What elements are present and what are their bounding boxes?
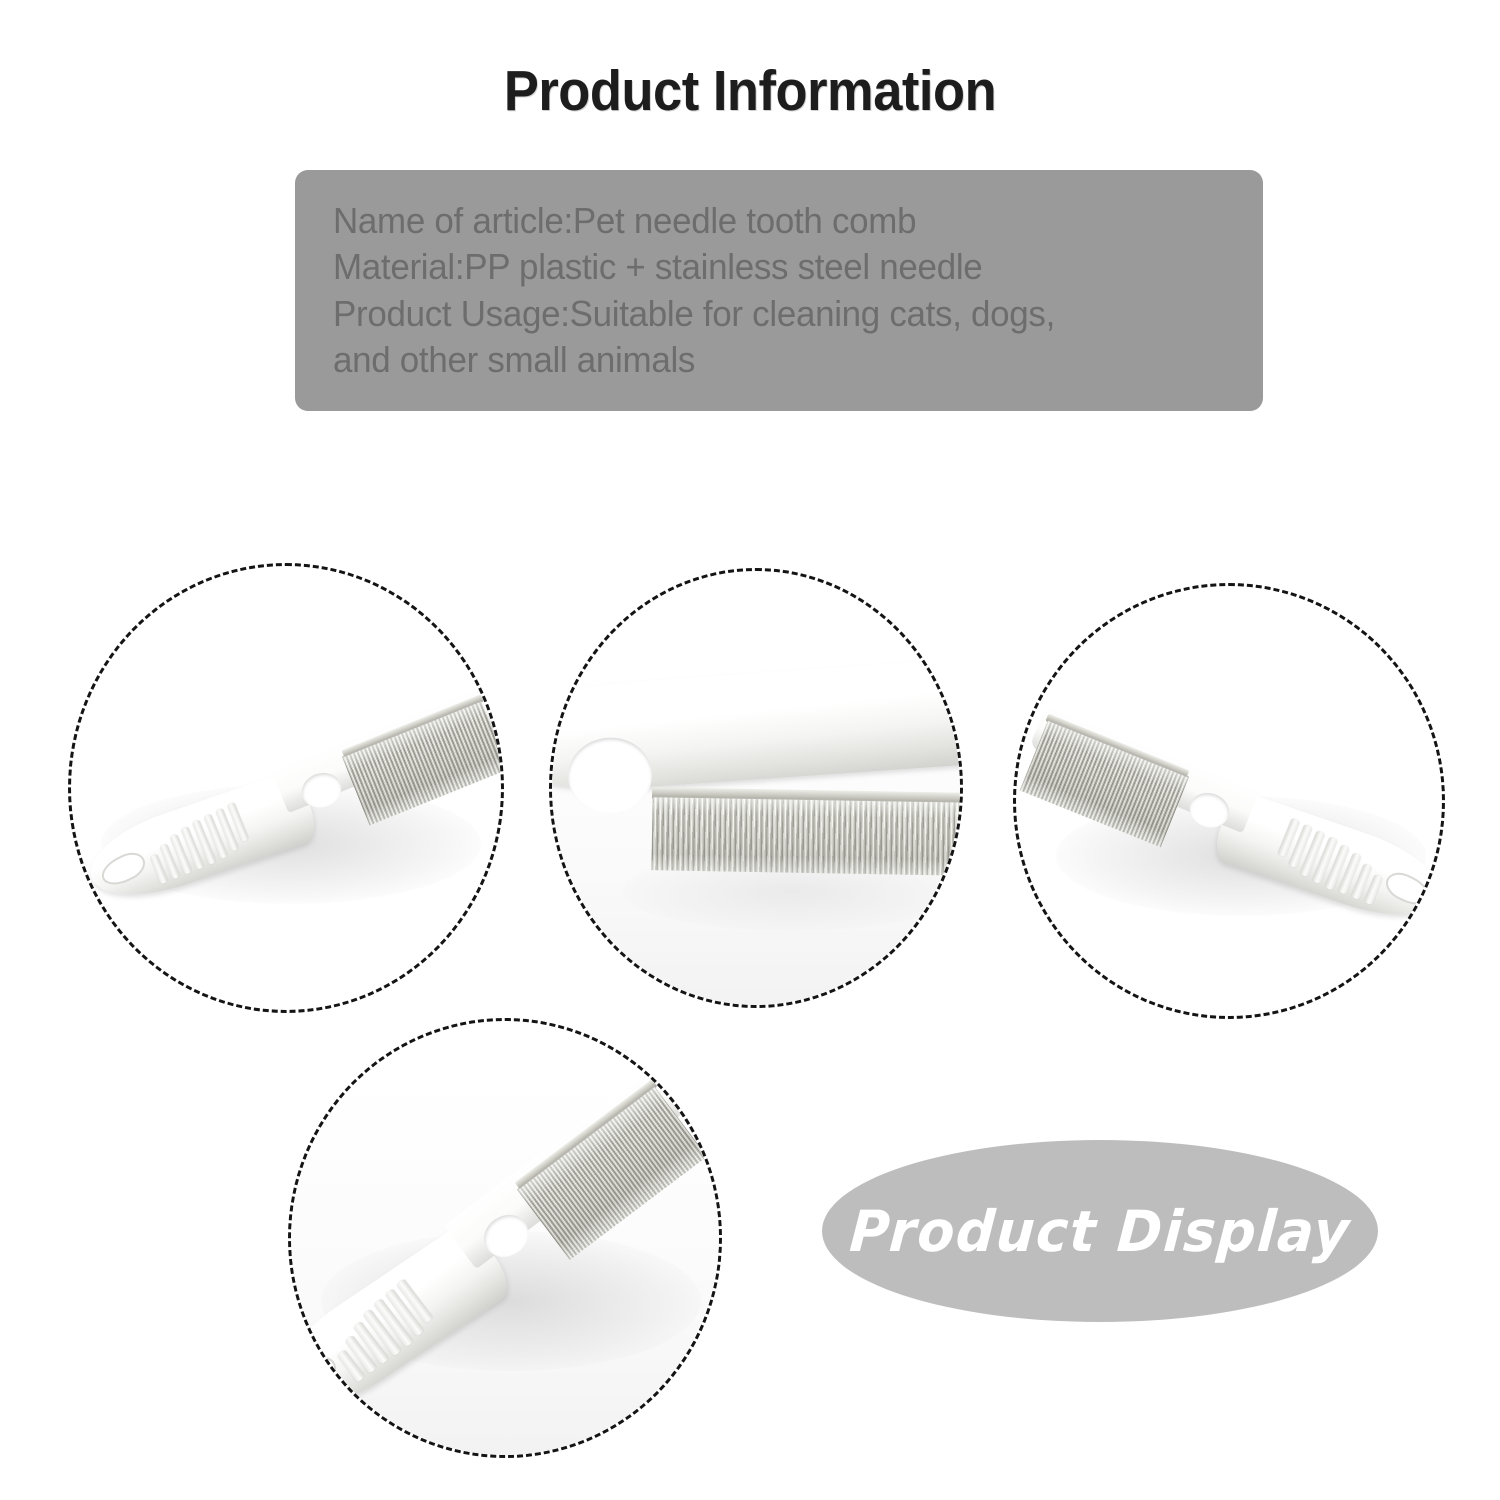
comb-product-3	[1016, 666, 1442, 986]
product-information-page: Product Information Name of article:Pet …	[0, 0, 1500, 1500]
product-photo-comb-angled-view[interactable]	[288, 1018, 722, 1458]
product-info-text: Name of article:Pet needle tooth comb Ma…	[333, 198, 1202, 384]
info-line-name: Name of article:Pet needle tooth comb	[333, 198, 1202, 244]
product-photo-comb-full-view-left[interactable]	[68, 563, 504, 1013]
product-photo-comb-teeth-closeup[interactable]	[549, 568, 963, 1008]
photo-inner-4	[291, 1021, 719, 1455]
photo-inner-3	[1016, 586, 1442, 1016]
comb-product-1	[71, 646, 501, 966]
product-display-badge: Product Display	[822, 1140, 1378, 1322]
product-photo-comb-full-view-mirrored[interactable]	[1013, 583, 1445, 1019]
product-info-box: Name of article:Pet needle tooth comb Ma…	[295, 170, 1263, 411]
photo-inner-2	[552, 571, 960, 1005]
page-title: Product Information	[60, 58, 1440, 124]
photo-inner-1	[71, 566, 501, 1010]
info-line-material: Material:PP plastic + stainless steel ne…	[333, 244, 1202, 290]
product-shadow	[622, 851, 960, 931]
product-display-label: Product Display	[847, 1198, 1352, 1264]
info-line-usage-cont: and other small animals	[333, 337, 1202, 383]
info-line-usage: Product Usage:Suitable for cleaning cats…	[333, 291, 1202, 337]
